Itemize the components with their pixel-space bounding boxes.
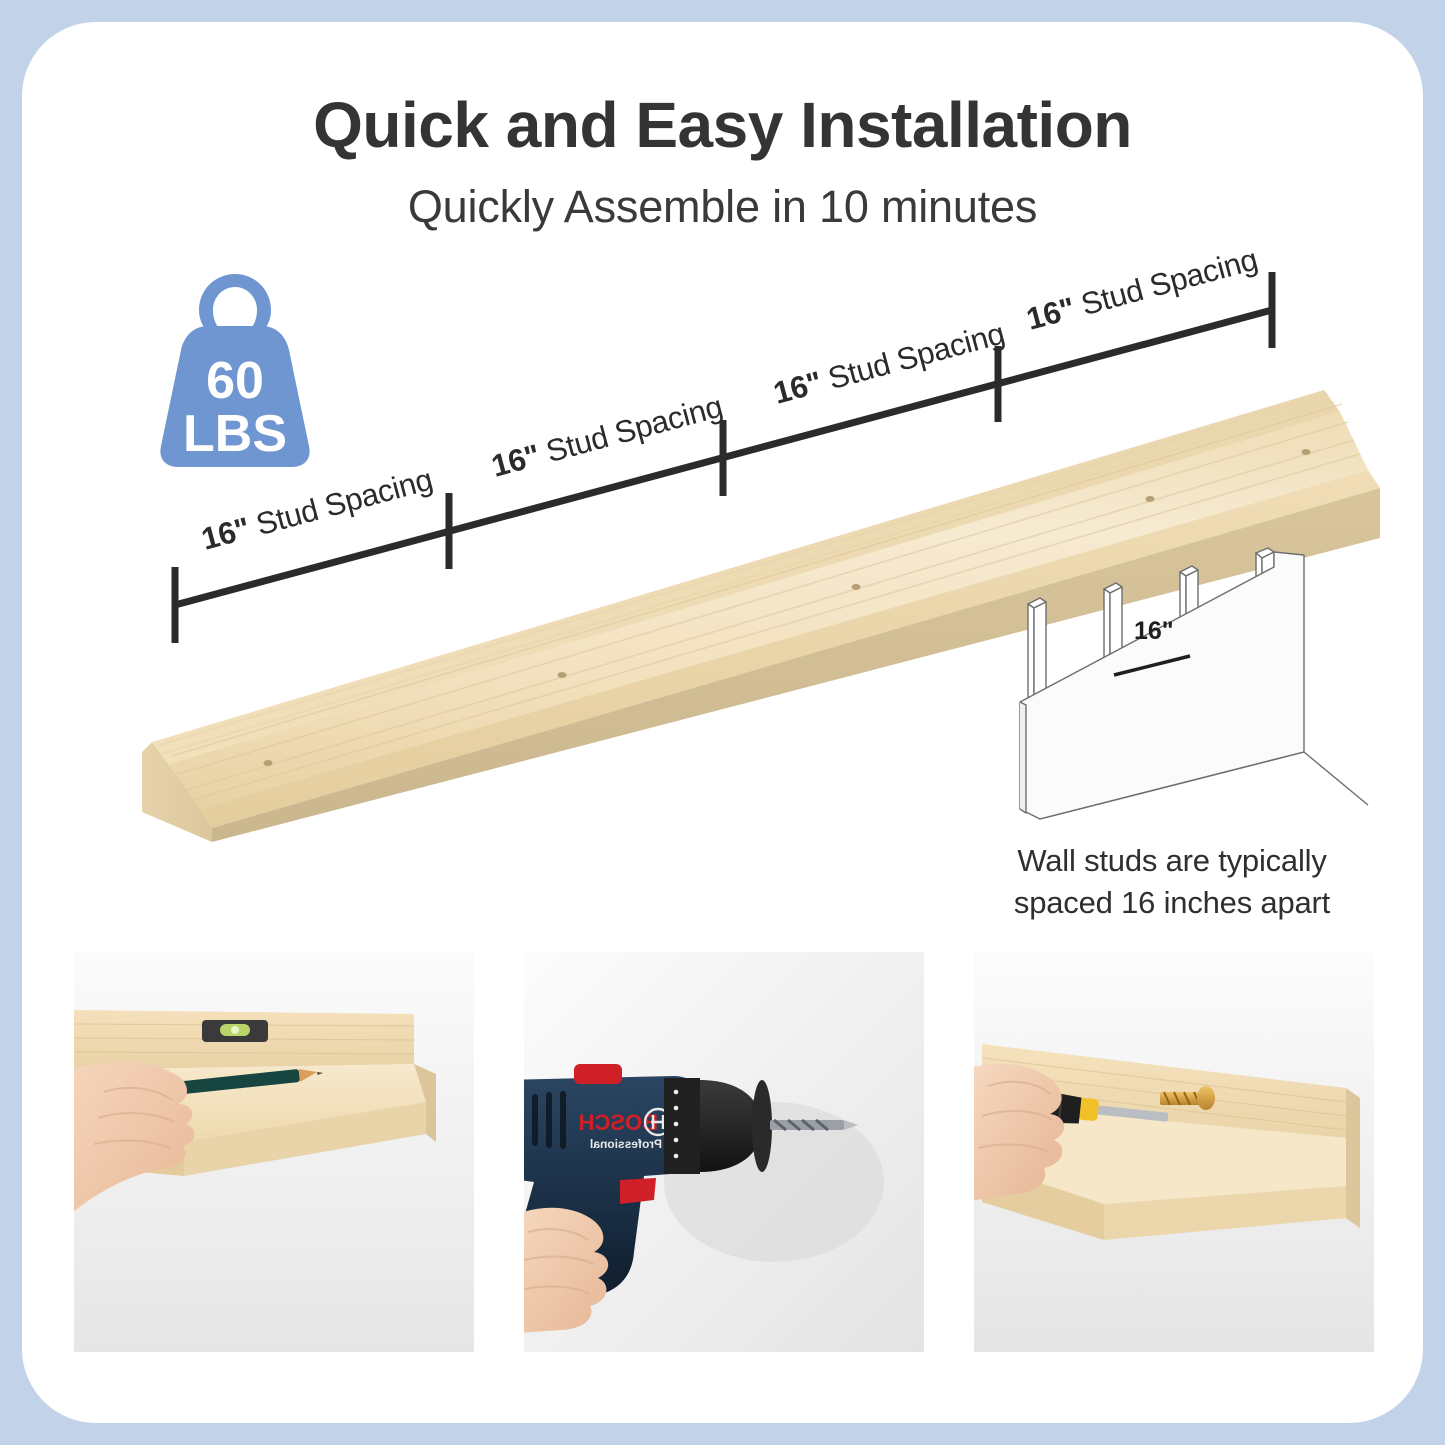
mounting-hole <box>558 672 567 678</box>
stud-spacing-label-4: 16" Stud Spacing <box>1023 242 1261 337</box>
stud-caption: Wall studs are typically spaced 16 inche… <box>962 840 1382 924</box>
mounting-hole <box>264 760 273 766</box>
bubble-level-icon <box>202 1020 268 1042</box>
stud-caption-line-2: spaced 16 inches apart <box>962 882 1382 924</box>
content-card: Quick and Easy Installation Quickly Asse… <box>22 22 1423 1423</box>
stud-caption-line-1: Wall studs are typically <box>962 840 1382 882</box>
photo-drill-hole: BOSCH Professional <box>524 952 924 1352</box>
page-subtitle: Quickly Assemble in 10 minutes <box>22 181 1423 233</box>
mounting-hole <box>1146 496 1155 502</box>
mounting-hole <box>852 584 861 590</box>
mounting-hole <box>1302 449 1311 455</box>
photo-mark-wall-with-pencil <box>74 952 474 1352</box>
photo-drive-screw <box>974 952 1374 1352</box>
drill-brand-sub-label: Professional <box>590 1137 662 1151</box>
page-canvas: Quick and Easy Installation Quickly Asse… <box>0 0 1445 1445</box>
wall-stud-diagram: 16" <box>982 547 1372 847</box>
installation-photo-row: BOSCH Professional <box>74 952 1374 1352</box>
drill-bit <box>770 1120 858 1130</box>
page-title: Quick and Easy Installation <box>22 92 1423 159</box>
stud-dimension-label: 16" <box>1134 617 1174 645</box>
header-block: Quick and Easy Installation Quickly Asse… <box>22 92 1423 233</box>
drywall-sheet <box>1020 552 1304 819</box>
